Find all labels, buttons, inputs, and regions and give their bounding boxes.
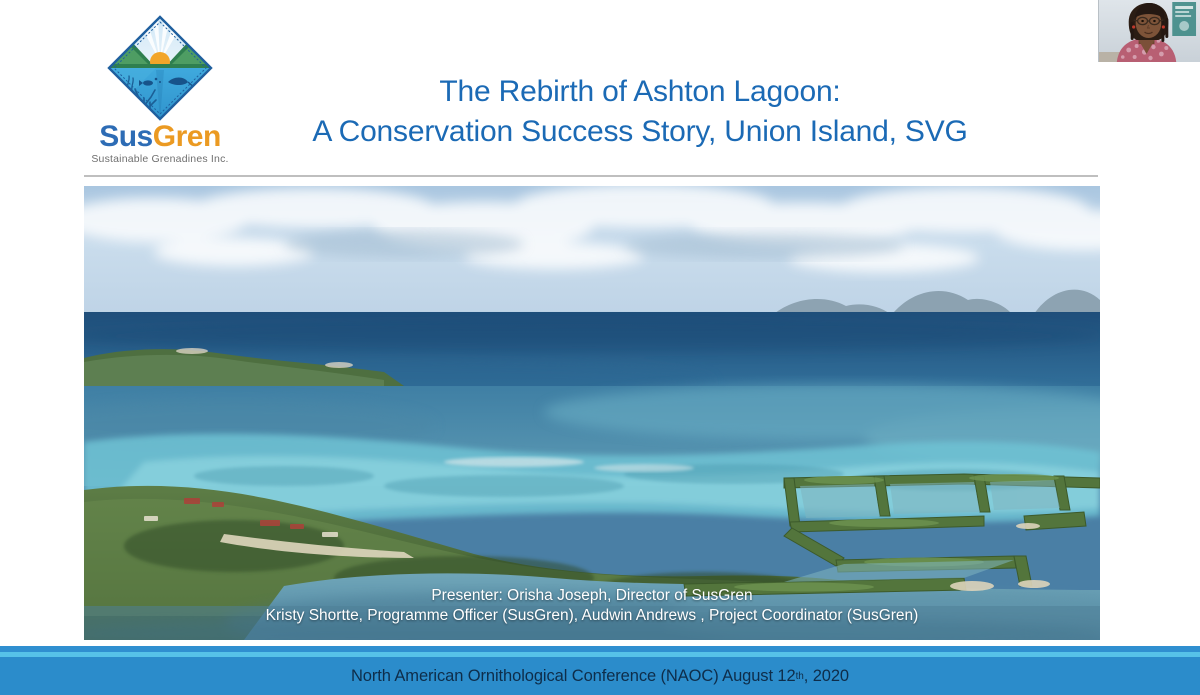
lagoon-aerial-illustration xyxy=(84,186,1100,640)
footer-text-superscript: th xyxy=(796,671,804,682)
presenter-video-frame xyxy=(1099,0,1200,62)
logo-tagline: Sustainable Grenadines Inc. xyxy=(85,153,235,165)
logo-wordmark: SusGren xyxy=(85,122,235,152)
slide-footer: North American Ornithological Conference… xyxy=(0,646,1200,695)
presentation-screen: SusGren Sustainable Grenadines Inc. The … xyxy=(0,0,1200,695)
footer-text-after: , 2020 xyxy=(804,667,849,686)
logo-word-part1: Sus xyxy=(99,120,153,153)
slide-title: The Rebirth of Ashton Lagoon: A Conserva… xyxy=(240,72,1040,151)
footer-text-before: North American Ornithological Conference… xyxy=(351,667,796,686)
title-divider xyxy=(84,175,1098,177)
footer-conference-text: North American Ornithological Conference… xyxy=(0,657,1200,695)
presenter-video-thumbnail[interactable] xyxy=(1098,0,1200,62)
slide-title-line-1: The Rebirth of Ashton Lagoon: xyxy=(240,72,1040,112)
slide-title-line-2: A Conservation Success Story, Union Isla… xyxy=(240,112,1040,152)
lagoon-aerial-photo: Presenter: Orisha Joseph, Director of Su… xyxy=(84,186,1100,640)
logo-word-part2: Gren xyxy=(153,120,221,153)
susgren-diamond-logo-icon xyxy=(104,12,216,124)
susgren-logo: SusGren Sustainable Grenadines Inc. xyxy=(85,12,235,162)
slide-canvas: SusGren Sustainable Grenadines Inc. The … xyxy=(0,0,1200,646)
